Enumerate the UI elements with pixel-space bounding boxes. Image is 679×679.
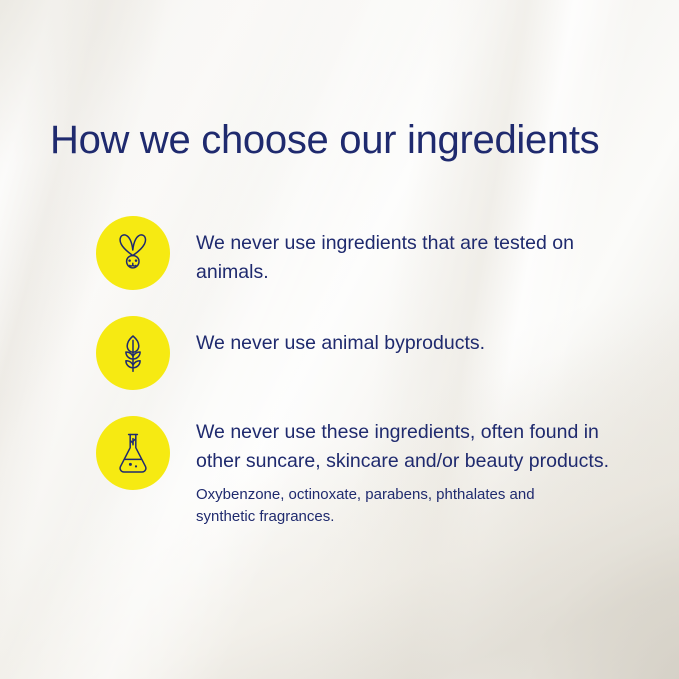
list-item-text: We never use ingredients that are tested… [196,216,616,286]
list-item: We never use ingredients that are tested… [96,216,636,290]
list-item-text: We never use these ingredients, often fo… [196,416,616,475]
rabbit-icon [112,231,154,275]
list-item: We never use these ingredients, often fo… [96,416,636,527]
plant-badge [96,316,170,390]
list-item-subtext: Oxybenzone, octinoxate, parabens, phthal… [196,484,586,527]
ingredient-claims-graphic: How we choose our ingredients [0,0,679,679]
flask-badge [96,416,170,490]
rabbit-badge [96,216,170,290]
claims-list: We never use ingredients that are tested… [96,216,636,553]
list-item: We never use animal byproducts. [96,316,636,390]
page-title: How we choose our ingredients [50,118,599,163]
flask-icon [115,429,151,477]
plant-leaf-icon [114,330,152,376]
list-item-text: We never use animal byproducts. [196,316,485,358]
